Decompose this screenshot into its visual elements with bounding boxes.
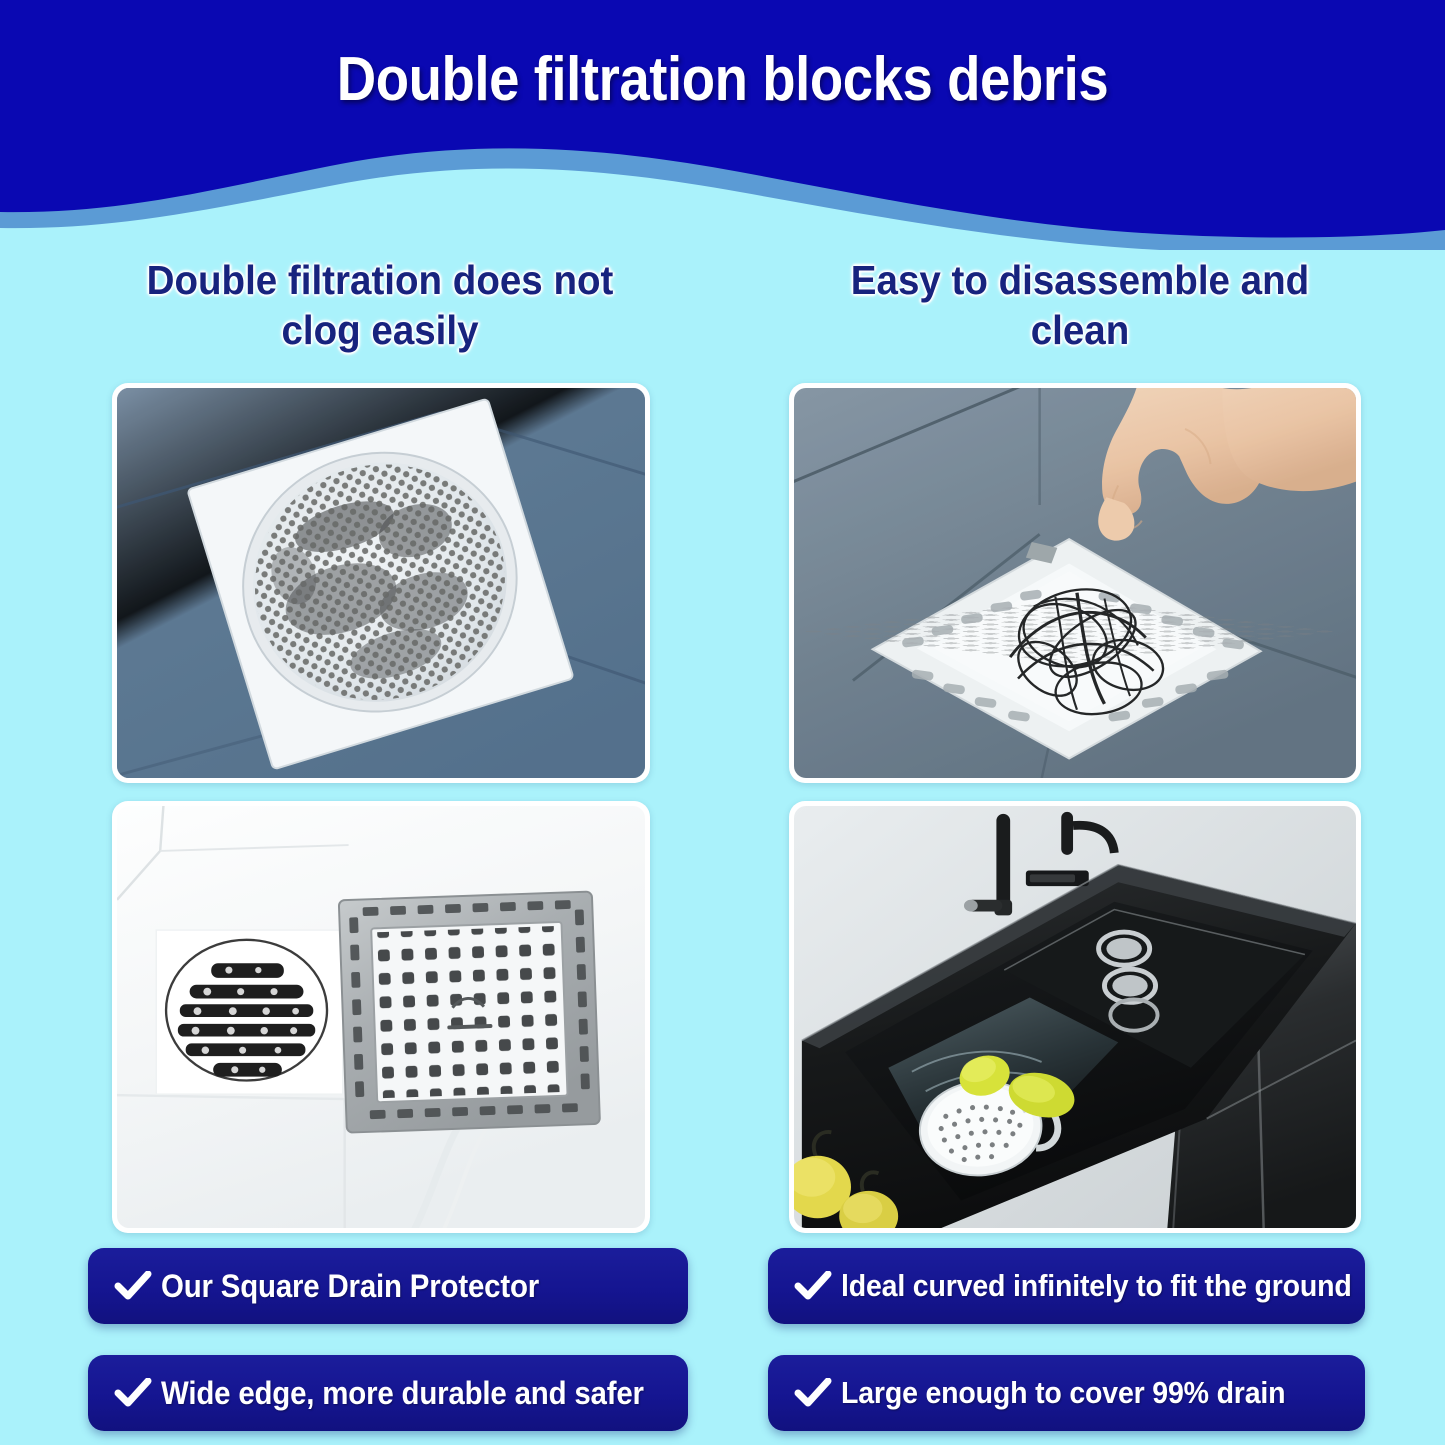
drain-comparison-illustration xyxy=(117,806,645,1228)
photo-drain-cover-installed-on-tile xyxy=(112,383,650,783)
photo-inner xyxy=(794,806,1356,1228)
feature-pill-4[interactable]: Large enough to cover 99% drain xyxy=(768,1355,1365,1431)
header-wave-decoration xyxy=(0,0,1445,250)
photo-round-drain-and-square-cover-comparison xyxy=(112,801,650,1233)
check-icon xyxy=(794,1271,832,1301)
photo-strainer-in-black-kitchen-sink xyxy=(789,801,1361,1233)
photo-inner xyxy=(117,388,645,778)
feature-pill-1[interactable]: Our Square Drain Protector xyxy=(88,1248,688,1324)
feature-label: Wide edge, more durable and safer xyxy=(161,1375,644,1412)
feature-label: Our Square Drain Protector xyxy=(161,1268,539,1305)
feature-label: ldeal curved infinitely to fit the groun… xyxy=(841,1268,1352,1304)
section-heading-right: Easy to disassemble and clean xyxy=(807,255,1352,355)
header-banner: Double filtration blocks debris xyxy=(0,0,1445,250)
kitchen-sink-illustration xyxy=(794,806,1356,1228)
section-heading-left: Double filtration does not clog easily xyxy=(126,255,634,355)
feature-label: Large enough to cover 99% drain xyxy=(841,1375,1285,1411)
feature-pill-2[interactable]: Wide edge, more durable and safer xyxy=(88,1355,688,1431)
feature-pill-3[interactable]: ldeal curved infinitely to fit the groun… xyxy=(768,1248,1365,1324)
check-icon xyxy=(114,1271,152,1301)
page-title: Double filtration blocks debris xyxy=(87,44,1359,115)
photo-inner xyxy=(117,806,645,1228)
photo-inner xyxy=(794,388,1356,778)
hand-lifting-cover-illustration xyxy=(794,388,1356,778)
drain-cover-installed-illustration xyxy=(117,388,645,778)
check-icon xyxy=(794,1378,832,1408)
photo-hand-lifting-cover-with-hair xyxy=(789,383,1361,783)
check-icon xyxy=(114,1378,152,1408)
